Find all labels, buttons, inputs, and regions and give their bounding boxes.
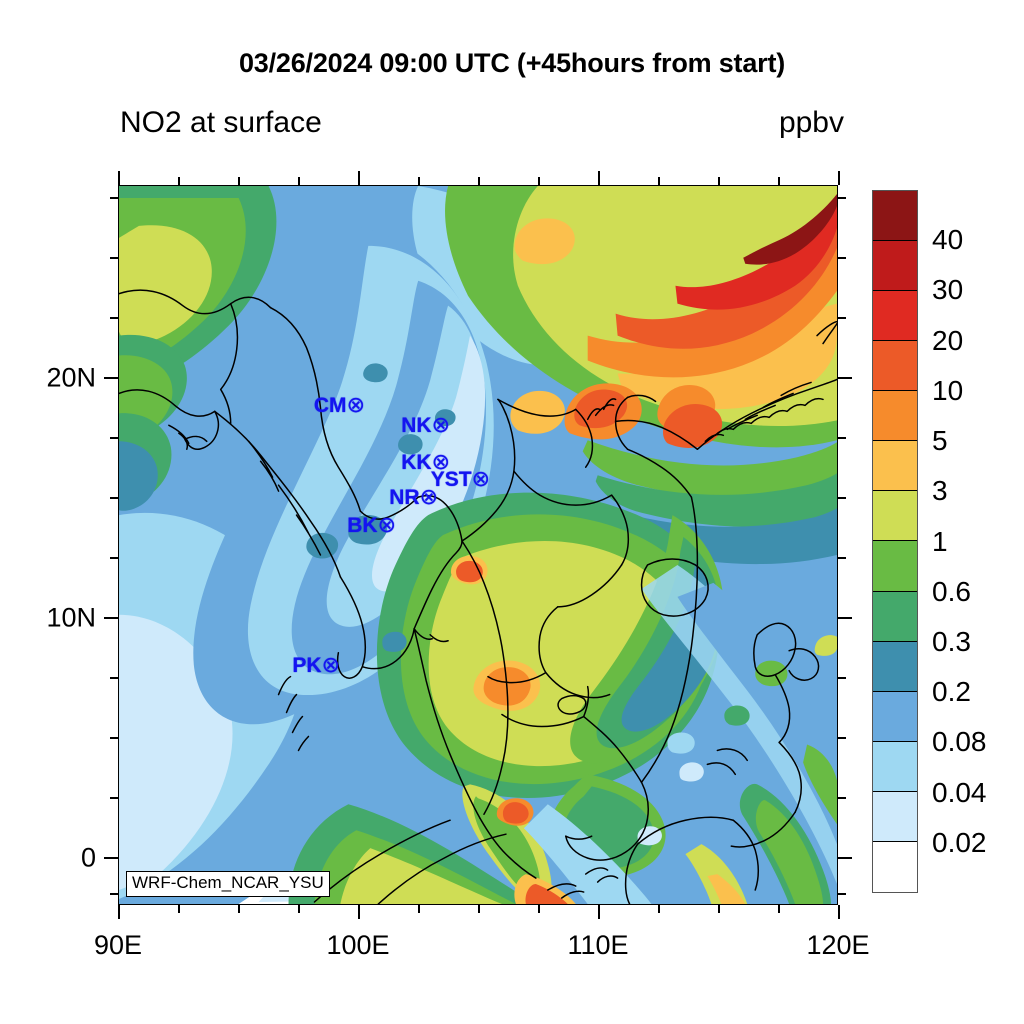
colorbar-tick-label-0.6: 0.6	[932, 576, 971, 608]
x-tick-minor	[718, 905, 720, 913]
colorbar-tick-label-0.08: 0.08	[932, 726, 987, 758]
colorbar-band-0	[873, 191, 917, 241]
x-tick-top	[178, 177, 180, 185]
colorbar-band-3	[873, 341, 917, 391]
x-axis-label-1: 100E	[326, 930, 389, 961]
station-marker-pk[interactable]: PK⊗	[292, 654, 340, 676]
x-tick-minor	[778, 905, 780, 913]
y-axis-label-0: 0	[48, 843, 96, 874]
station-label: KK	[401, 451, 431, 474]
x-tick-major	[358, 905, 360, 919]
colorbar-band-7	[873, 541, 917, 591]
y-tick-right	[838, 617, 852, 619]
x-axis-label-3: 120E	[806, 930, 869, 961]
x-tick-top	[778, 177, 780, 185]
circled-x-icon: ⊗	[472, 466, 490, 491]
x-tick-top	[658, 177, 660, 185]
x-tick-top	[718, 177, 720, 185]
station-marker-yst[interactable]: YST⊗	[431, 468, 490, 490]
y-tick-right	[838, 857, 852, 859]
y-tick-minor	[110, 257, 118, 259]
colorbar-tick-label-3: 3	[932, 475, 948, 507]
colorbar-tick-label-0.04: 0.04	[932, 777, 987, 809]
colorbar-band-4	[873, 391, 917, 441]
y-tick-minor	[110, 197, 118, 199]
x-tick-minor	[418, 905, 420, 913]
y-tick-minor	[110, 557, 118, 559]
y-tick-right	[838, 317, 846, 319]
x-tick-top	[418, 177, 420, 185]
colorbar-band-11	[873, 742, 917, 792]
station-label: NR	[389, 486, 419, 509]
colorbar-band-1	[873, 241, 917, 291]
x-tick-top	[118, 171, 120, 185]
y-tick-right	[838, 797, 846, 799]
y-tick-right	[838, 257, 846, 259]
circled-x-icon: ⊗	[432, 412, 450, 437]
y-tick-minor	[110, 497, 118, 499]
station-label: PK	[292, 654, 321, 677]
circled-x-icon: ⊗	[347, 392, 365, 417]
station-marker-nk[interactable]: NK⊗	[401, 414, 450, 436]
station-label: CM	[314, 394, 347, 417]
colorbar-band-5	[873, 441, 917, 491]
x-tick-top	[838, 171, 840, 185]
station-marker-cm[interactable]: CM⊗	[314, 394, 365, 416]
no2-contour-field	[119, 186, 837, 904]
x-axis-label-2: 110E	[567, 930, 628, 961]
colorbar-band-2	[873, 291, 917, 341]
y-tick-right	[838, 437, 846, 439]
x-tick-top	[358, 171, 360, 185]
x-axis-label-0: 90E	[94, 930, 142, 961]
field-label: NO2 at surface	[120, 106, 322, 140]
y-axis-label-1: 10N	[8, 603, 96, 634]
y-tick-right	[838, 893, 846, 895]
colorbar-band-12	[873, 792, 917, 842]
x-tick-major	[838, 905, 840, 919]
y-tick-minor	[110, 797, 118, 799]
x-tick-minor	[538, 905, 540, 913]
colorbar-tick-label-0.2: 0.2	[932, 676, 971, 708]
x-tick-top	[298, 177, 300, 185]
y-tick-major	[104, 857, 118, 859]
page-title: 03/26/2024 09:00 UTC (+45hours from star…	[0, 48, 1024, 79]
circled-x-icon: ⊗	[322, 652, 340, 677]
x-tick-top	[238, 177, 240, 185]
y-tick-minor	[110, 893, 118, 895]
x-tick-minor	[658, 905, 660, 913]
x-tick-minor	[298, 905, 300, 913]
station-marker-bk[interactable]: BK⊗	[347, 514, 396, 536]
colorbar-band-8	[873, 592, 917, 642]
x-tick-major	[118, 905, 120, 919]
colorbar-tick-label-40: 40	[932, 224, 963, 256]
colorbar-tick-label-1: 1	[932, 526, 948, 558]
x-tick-top	[538, 177, 540, 185]
colorbar-band-10	[873, 692, 917, 742]
y-tick-minor	[110, 737, 118, 739]
y-tick-right	[838, 497, 846, 499]
y-axis-label-2: 20N	[8, 363, 96, 394]
y-tick-major	[104, 617, 118, 619]
y-tick-right	[838, 197, 846, 199]
station-marker-nr[interactable]: NR⊗	[389, 486, 438, 508]
y-tick-right	[838, 677, 846, 679]
y-tick-major	[104, 377, 118, 379]
colorbar-band-9	[873, 642, 917, 692]
colorbar-tick-label-0.02: 0.02	[932, 827, 987, 859]
colorbar-tick-label-30: 30	[932, 274, 963, 306]
circled-x-icon: ⊗	[378, 512, 396, 537]
x-tick-minor	[478, 905, 480, 913]
y-tick-right	[838, 377, 852, 379]
colorbar-tick-label-0.3: 0.3	[932, 626, 971, 658]
no2-surface-map-figure: 03/26/2024 09:00 UTC (+45hours from star…	[0, 0, 1024, 1024]
x-tick-top	[598, 171, 600, 185]
station-label: BK	[347, 514, 377, 537]
y-tick-minor	[110, 437, 118, 439]
colorbar-tick-label-20: 20	[932, 325, 963, 357]
model-watermark: WRF-Chem_NCAR_YSU	[126, 871, 330, 897]
x-tick-top	[478, 177, 480, 185]
y-tick-right	[838, 737, 846, 739]
y-tick-right	[838, 557, 846, 559]
colorbar[interactable]	[872, 190, 918, 893]
y-tick-minor	[110, 317, 118, 319]
units-label: ppbv	[779, 106, 844, 140]
map-plot-area[interactable]	[118, 185, 838, 905]
station-label: NK	[401, 414, 431, 437]
colorbar-tick-label-10: 10	[932, 375, 963, 407]
x-tick-major	[598, 905, 600, 919]
colorbar-band-6	[873, 491, 917, 541]
circled-x-icon: ⊗	[420, 484, 438, 509]
colorbar-tick-label-5: 5	[932, 425, 948, 457]
x-tick-minor	[178, 905, 180, 913]
y-tick-minor	[110, 677, 118, 679]
x-tick-minor	[238, 905, 240, 913]
colorbar-band-13	[873, 842, 917, 892]
